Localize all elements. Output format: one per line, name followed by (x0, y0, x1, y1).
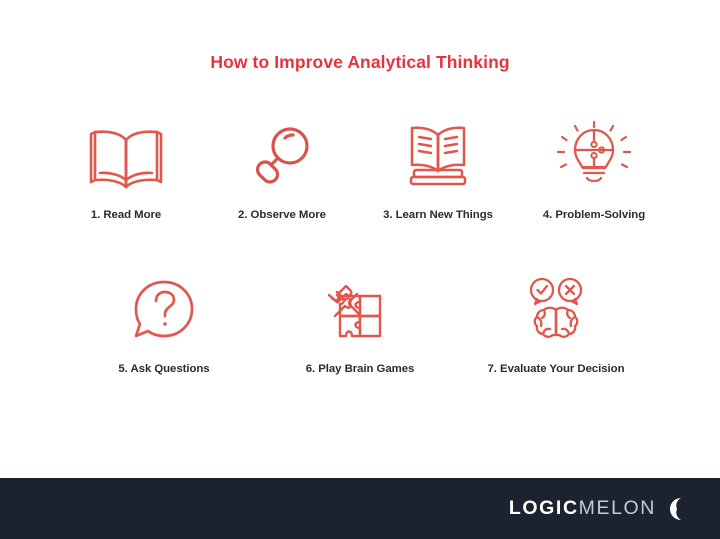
steps-row-two: 5. Ask Questions 6. Play Brain Games (0, 272, 720, 375)
puzzle-lightbulb-icon (551, 118, 637, 196)
step-label: 4. Problem-Solving (543, 209, 645, 221)
melon-slice-logo-icon (668, 494, 698, 524)
puzzle-pieces-icon (317, 272, 403, 350)
step-item-play-brain-games[interactable]: 6. Play Brain Games (262, 272, 458, 375)
step-label: 2. Observe More (238, 209, 326, 221)
brand-logo[interactable]: LOGIC MELON (509, 494, 698, 524)
steps-row-one: 1. Read More 2. Observe More (0, 118, 720, 221)
footer-bar: LOGIC MELON (0, 478, 720, 539)
step-item-observe-more[interactable]: 2. Observe More (204, 118, 360, 221)
step-label: 3. Learn New Things (383, 209, 493, 221)
book-stack-icon (395, 118, 481, 196)
step-item-evaluate-your-decision[interactable]: 7. Evaluate Your Decision (458, 272, 654, 375)
page-title: How to Improve Analytical Thinking (0, 52, 720, 73)
brand-logo-primary: LOGIC (509, 497, 579, 520)
magnifying-glass-icon (239, 118, 325, 196)
brain-evaluate-icon (513, 272, 599, 350)
slide-canvas: How to Improve Analytical Thinking 1 (0, 0, 720, 539)
question-speech-bubble-icon (121, 272, 207, 350)
step-label: 7. Evaluate Your Decision (488, 363, 625, 375)
step-item-learn-new-things[interactable]: 3. Learn New Things (360, 118, 516, 221)
step-item-read-more[interactable]: 1. Read More (48, 118, 204, 221)
step-item-ask-questions[interactable]: 5. Ask Questions (66, 272, 262, 375)
step-label: 5. Ask Questions (118, 363, 209, 375)
brand-logo-secondary: MELON (579, 497, 656, 520)
step-label: 6. Play Brain Games (306, 363, 415, 375)
open-book-icon (83, 118, 169, 196)
step-item-problem-solving[interactable]: 4. Problem-Solving (516, 118, 672, 221)
step-label: 1. Read More (91, 209, 161, 221)
